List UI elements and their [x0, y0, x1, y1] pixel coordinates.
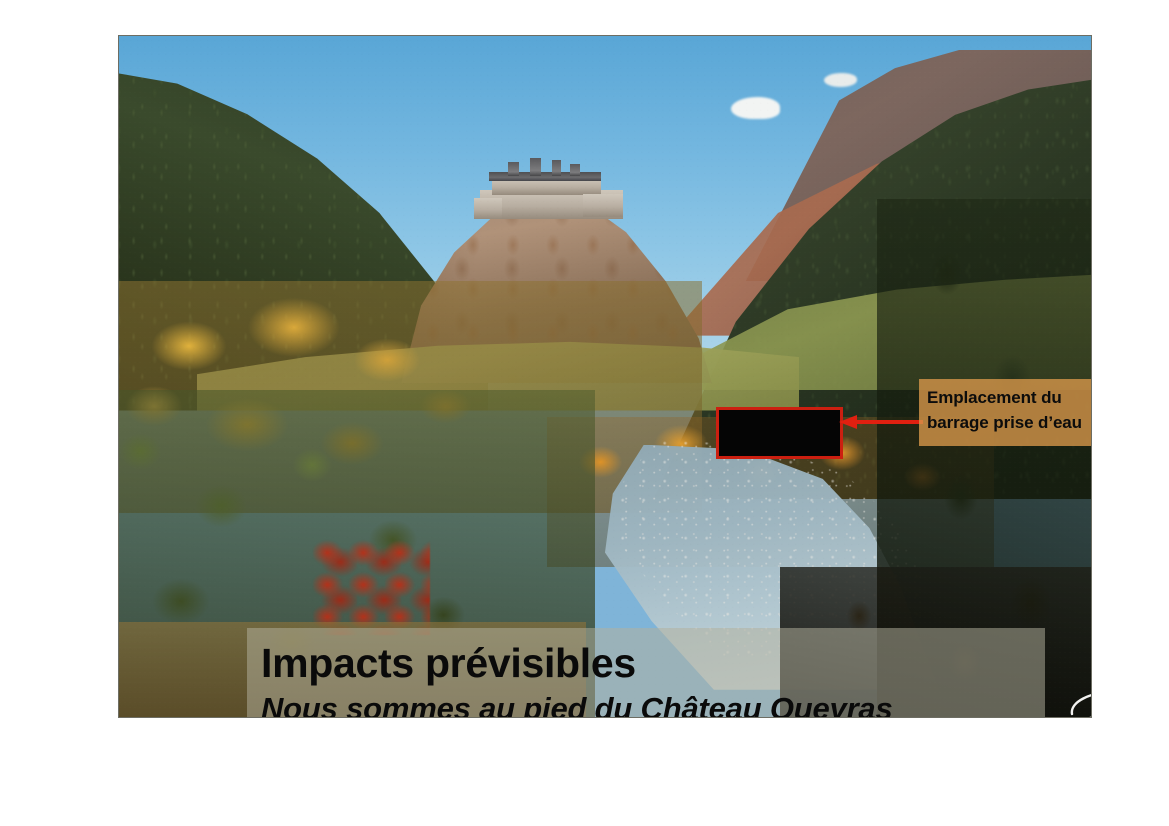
snow-patch-icon	[731, 97, 780, 119]
chateau-queyras-fortress	[474, 155, 630, 220]
caption-line-1: Emplacement du	[927, 385, 1092, 410]
chateau-queyras-photograph: Impacts prévisibles Nous sommes au pied …	[118, 35, 1092, 718]
page-subtitle: Nous sommes au pied du Château Queyras	[261, 688, 1045, 718]
title-band: Impacts prévisibles Nous sommes au pied …	[247, 628, 1045, 718]
snow-patch-secondary-icon	[824, 73, 857, 87]
slide-canvas: Impacts prévisibles Nous sommes au pied …	[0, 0, 1169, 826]
page-title: Impacts prévisibles	[261, 638, 1045, 688]
dam-caption-box: Emplacement du barrage prise d’eau	[919, 379, 1092, 446]
dam-location-redaction-box	[716, 407, 843, 459]
red-pointer-arrow	[837, 411, 923, 433]
caption-line-2: barrage prise d’eau	[927, 410, 1092, 435]
handwritten-signature	[1064, 686, 1092, 718]
